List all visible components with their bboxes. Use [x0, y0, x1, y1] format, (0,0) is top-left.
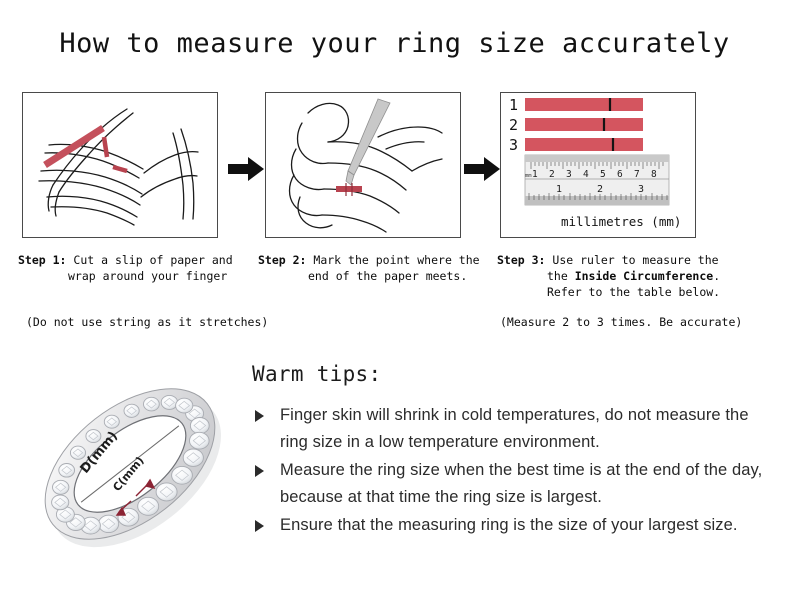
ring-stone: [144, 397, 160, 411]
warm-tip-text: Measure the ring size when the best time…: [280, 461, 762, 506]
step-2-image-panel: [265, 92, 461, 238]
ring-stone: [161, 395, 177, 409]
step-2-caption: Step 2: Mark the point where the end of …: [258, 252, 498, 284]
strip-number-3: 3: [509, 136, 518, 154]
ring-stone: [104, 415, 119, 428]
ring-stone: [172, 466, 193, 484]
ruler-cm-tick-1: 1: [532, 169, 538, 180]
strip-number-1: 1: [509, 96, 518, 114]
warm-tip-text: Finger skin will shrink in cold temperat…: [280, 406, 749, 451]
hand-marking-paper-illustration: [266, 93, 460, 237]
step-3-line-2-prefix: the: [547, 269, 575, 283]
ring-size-guide-page: How to measure your ring size accurately: [0, 0, 789, 606]
ring-stone: [156, 483, 177, 501]
warm-tip-item: Finger skin will shrink in cold temperat…: [252, 402, 772, 455]
arrow-step1-to-step2-icon: [226, 155, 266, 183]
warm-tip-item: Measure the ring size when the best time…: [252, 457, 772, 510]
triangle-bullet-icon: [255, 465, 264, 477]
ring-stone: [124, 404, 139, 417]
ruler-unit-caption: millimetres (mm): [561, 214, 681, 229]
ring-stone: [70, 446, 85, 459]
warm-tip-item: Ensure that the measuring ring is the si…: [252, 512, 772, 539]
step-2-line-1: Mark the point where the: [313, 253, 479, 267]
ruler-cm-tick-4: 4: [583, 169, 589, 180]
ruler-cm-tick-6: 6: [617, 169, 623, 180]
ring-stone: [190, 432, 210, 449]
strip-number-2: 2: [509, 116, 518, 134]
ruler-inch-tick-3: 3: [638, 184, 644, 195]
step-1-line-1: Cut a slip of paper and: [73, 253, 232, 267]
step-3-image-panel: 1 2 3: [500, 92, 696, 238]
ring-stone: [183, 449, 203, 466]
step-1-caption: Step 1: Cut a slip of paper and wrap aro…: [18, 252, 258, 284]
step-2-label: Step 2:: [258, 253, 306, 267]
step-3-inside-circumference-emphasis: Inside Circumference: [575, 269, 713, 283]
ring-stone: [52, 495, 69, 510]
hand-with-paper-strip-illustration: [23, 93, 217, 237]
step-3-line-1: Use ruler to measure the: [552, 253, 718, 267]
step-3-caption: Step 3: Use ruler to measure the the Ins…: [497, 252, 747, 300]
warm-tip-text: Ensure that the measuring ring is the si…: [280, 516, 738, 534]
step-1-line-2: wrap around your finger: [18, 268, 258, 284]
step-1-label: Step 1:: [18, 253, 66, 267]
page-title: How to measure your ring size accurately: [0, 28, 789, 59]
eternity-ring-illustration: D(mm) C(mm): [18, 352, 254, 584]
ruler-origin-label: mm: [525, 173, 532, 179]
triangle-bullet-icon: [255, 410, 264, 422]
warm-tips-section: Warm tips: Finger skin will shrink in co…: [252, 362, 772, 541]
ruler-and-strips-illustration: 1 2 3: [501, 93, 695, 237]
ring-stone: [53, 480, 69, 494]
step-1-image-panel: [22, 92, 218, 238]
ring-stone: [176, 398, 193, 413]
ring-stone: [190, 418, 209, 434]
step-3-line-2-suffix: .: [713, 269, 720, 283]
ring-stone: [59, 464, 75, 478]
ruler-cm-tick-7: 7: [634, 169, 640, 180]
ring-stone: [138, 497, 159, 515]
triangle-bullet-icon: [255, 520, 264, 532]
ruler-cm-tick-2: 2: [549, 169, 555, 180]
step-3-label: Step 3:: [497, 253, 545, 267]
ruler-inch-tick-2: 2: [597, 184, 603, 195]
step-1-note: (Do not use string as it stretches): [26, 315, 268, 329]
arrow-step2-to-step3-icon: [462, 155, 502, 183]
ruler-cm-tick-3: 3: [566, 169, 572, 180]
step-3-line-2: the Inside Circumference.: [497, 268, 747, 284]
step-3-note: (Measure 2 to 3 times. Be accurate): [500, 315, 742, 329]
ring-stone: [99, 515, 119, 532]
ruler-cm-tick-5: 5: [600, 169, 606, 180]
ring-diagram: D(mm) C(mm): [18, 352, 254, 584]
step-3-line-3: Refer to the table below.: [497, 284, 747, 300]
ruler-inch-tick-1: 1: [556, 184, 562, 195]
warm-tips-heading: Warm tips:: [252, 362, 772, 386]
step-2-line-2: end of the paper meets.: [258, 268, 498, 284]
ruler-cm-tick-8: 8: [651, 169, 657, 180]
